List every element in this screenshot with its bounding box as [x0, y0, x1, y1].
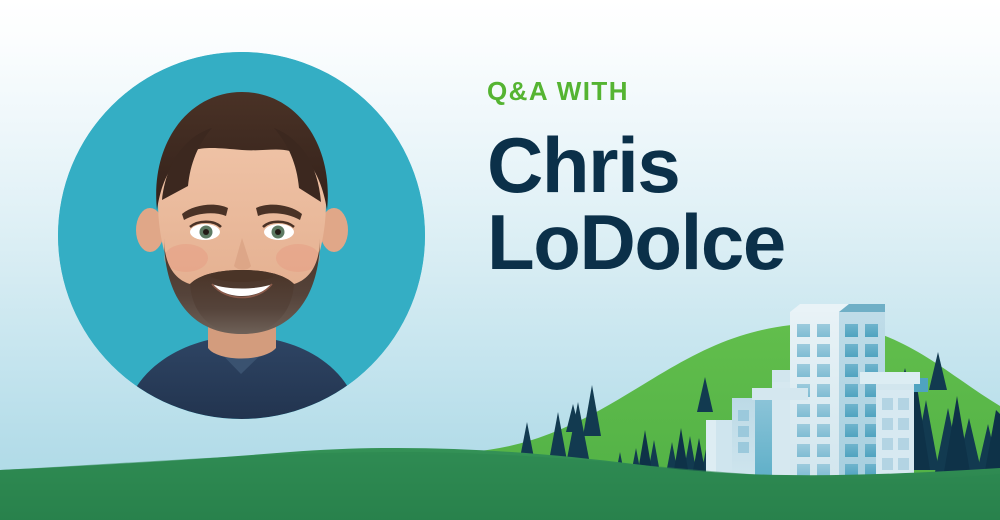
tower-windows-right: [845, 324, 878, 477]
building-roof-caps: [752, 372, 920, 400]
tower-main-right-face: [839, 304, 885, 480]
building-right-windows: [882, 398, 909, 470]
portrait-photo: [58, 52, 425, 419]
building-small-left: [706, 420, 732, 480]
tree-cluster-right: [852, 392, 1000, 476]
front-hill: [0, 448, 1000, 520]
building-right: [876, 378, 928, 480]
portrait-avatar: [58, 52, 425, 419]
tower-main-left-face: [790, 304, 849, 480]
city-buildings: [706, 304, 928, 480]
tree-cluster-mid-dark: [633, 428, 710, 500]
building-tall-left: [772, 370, 826, 480]
headline-block: Q&A WITH Chris LoDolce: [487, 78, 785, 281]
tree-cluster-left: [518, 402, 590, 468]
building-mid-left: [732, 398, 772, 480]
back-hill: [470, 324, 1000, 520]
tower-windows-left: [797, 324, 830, 477]
eyebrow-label: Q&A WITH: [487, 78, 785, 104]
tree-cluster-right-dark: [861, 380, 1000, 476]
page-title: Chris LoDolce: [487, 127, 785, 281]
qa-banner: Q&A WITH Chris LoDolce: [0, 0, 1000, 520]
tree-cluster-mid: [611, 436, 717, 500]
tree-ridge-top: [566, 352, 947, 436]
